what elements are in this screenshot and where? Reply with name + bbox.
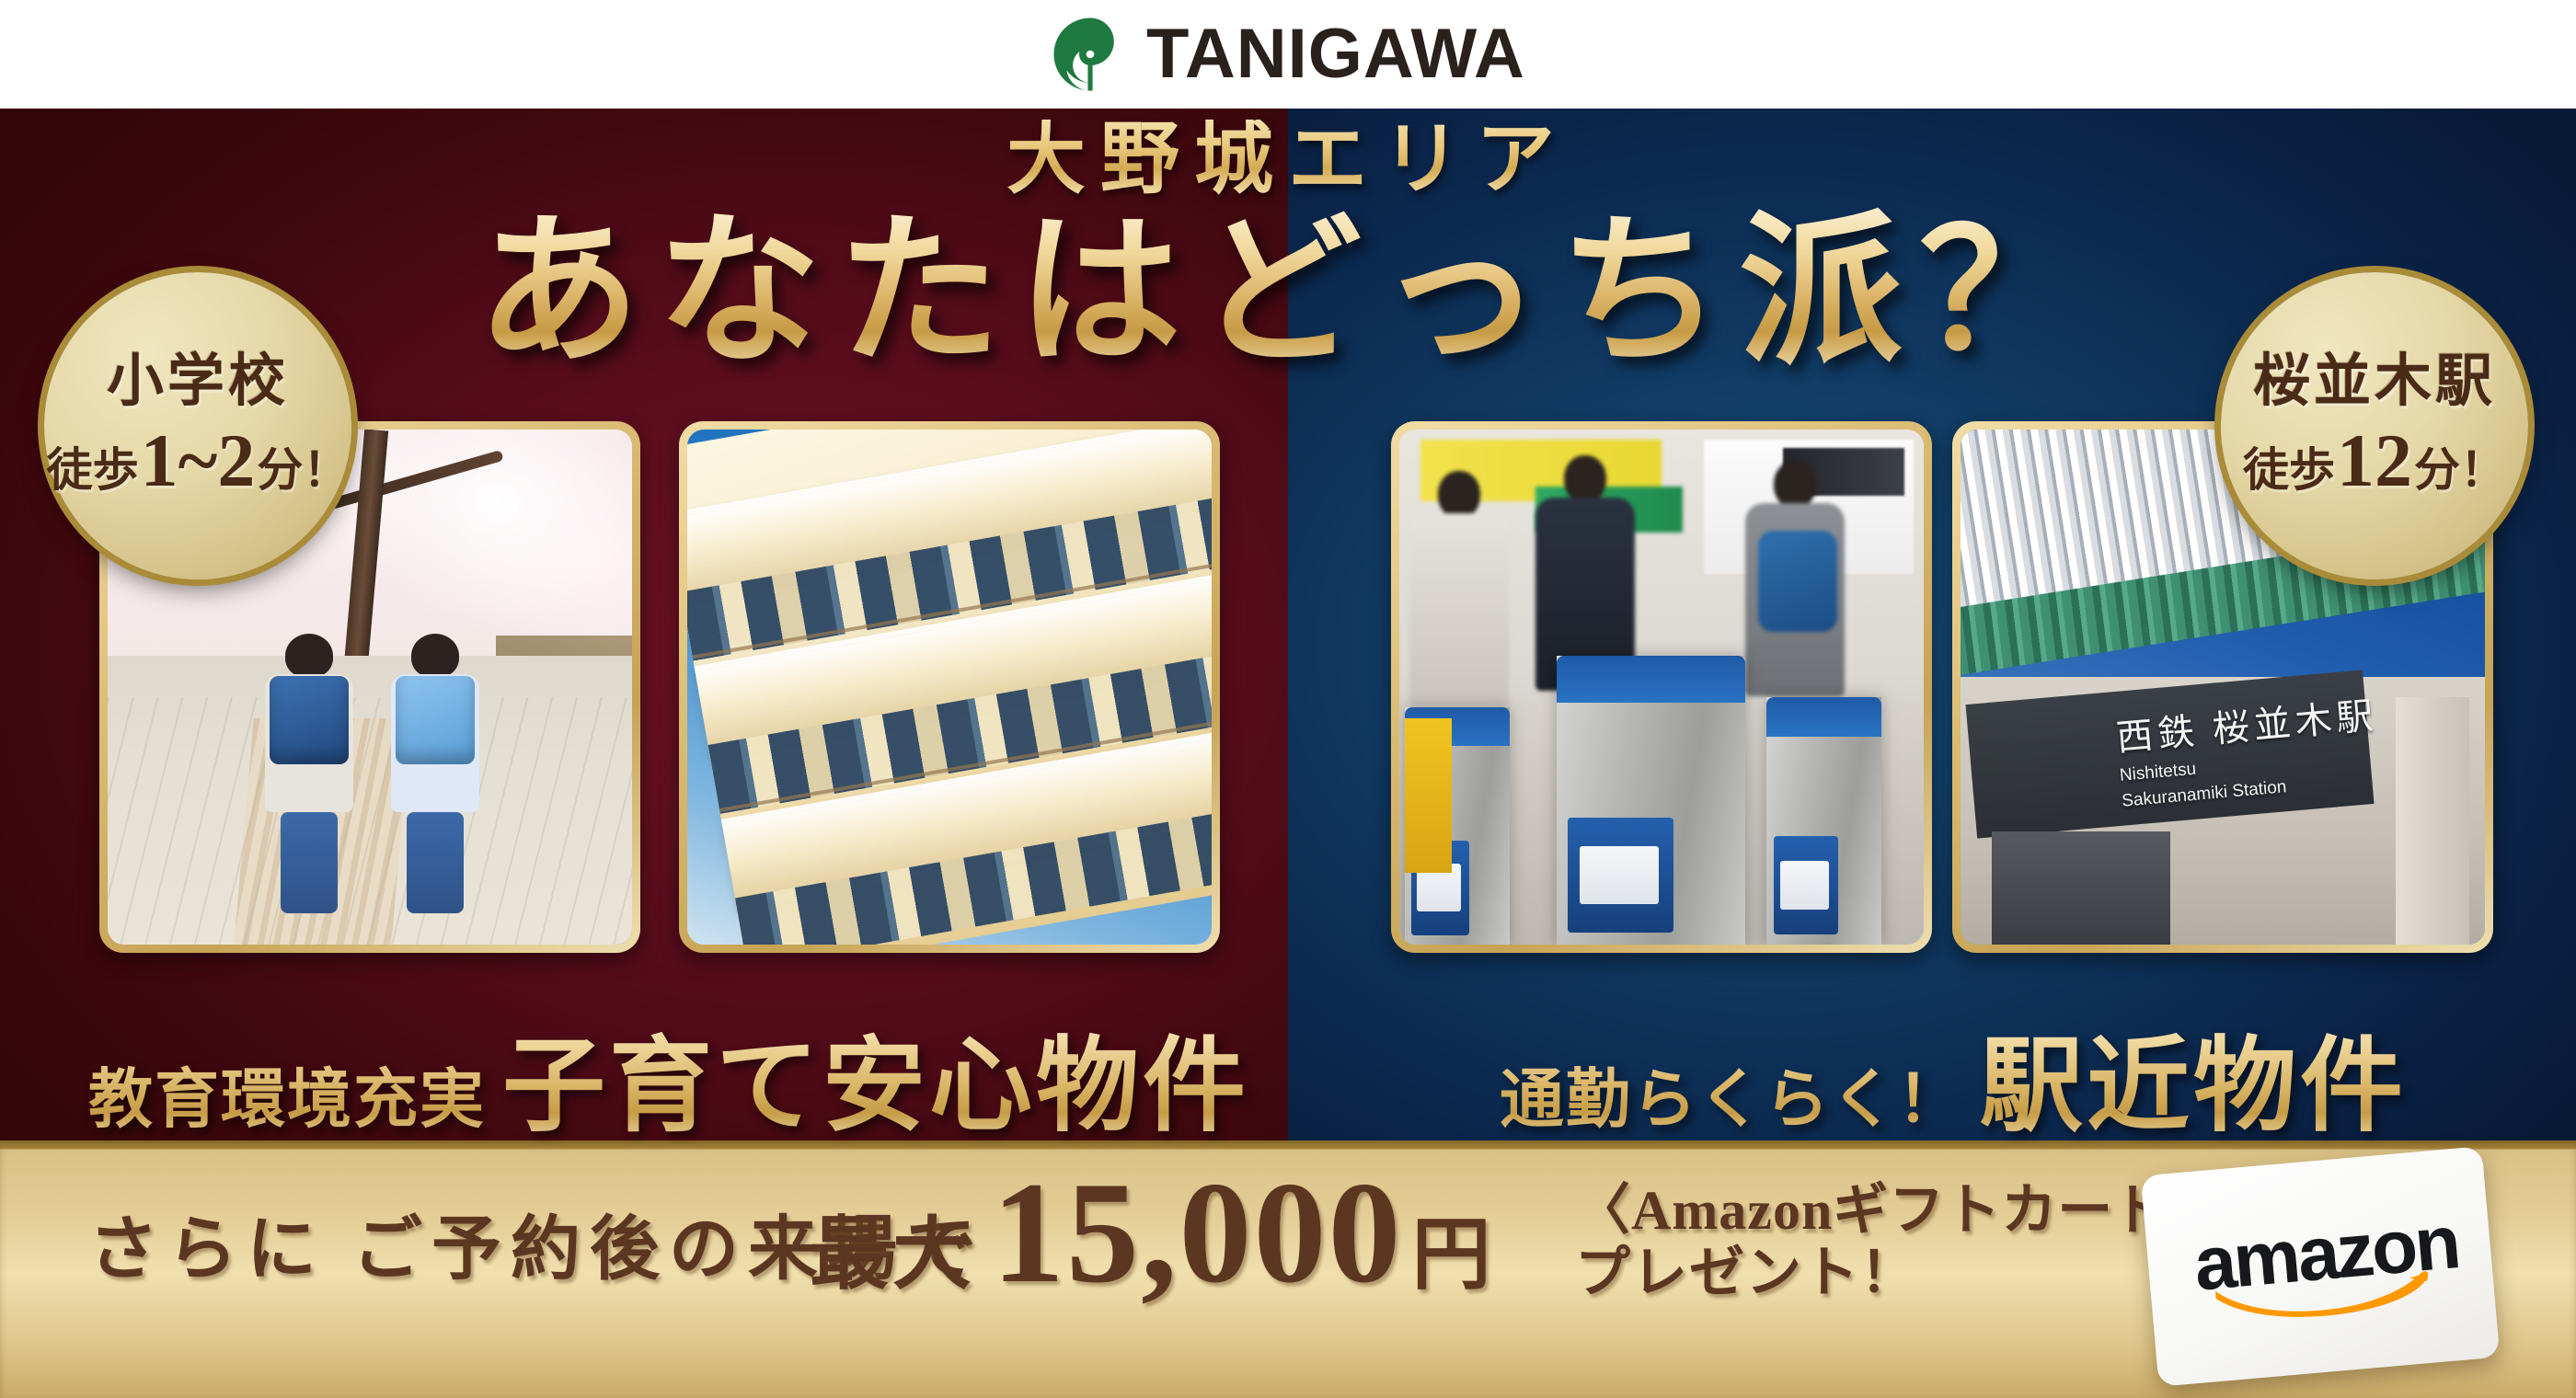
left-caption-big: 子育て安心物件 xyxy=(502,1003,1249,1152)
promo-max-label: 最大 xyxy=(810,1189,975,1304)
badge-right-suffix: 分！ xyxy=(2414,447,2506,493)
page-title: あなたはどっち派？ xyxy=(0,204,2576,381)
site-header: TANIGAWA xyxy=(0,0,2576,109)
brand-wordmark: TANIGAWA xyxy=(1146,19,1525,89)
badge-right-minutes: 12 xyxy=(2337,423,2412,498)
station-name-sign: 西鉄 桜並木駅 Nishitetsu Sakuranamiki Station xyxy=(2114,686,2374,812)
photo-school-building xyxy=(679,421,1220,953)
right-caption-small: 通勤らくらく！ xyxy=(1500,1048,1963,1140)
left-panel-caption: 教育環境充実 子育て安心物件 xyxy=(88,1003,1249,1152)
amazon-gift-card: amazon xyxy=(2141,1146,2501,1387)
badge-left-prefix: 徒歩 xyxy=(47,447,139,493)
badge-left-suffix: 分！ xyxy=(257,447,349,493)
left-caption-small: 教育環境充実 xyxy=(88,1048,486,1140)
promo-amount: 最大 15,000 円 xyxy=(810,1161,1491,1306)
badge-right-title: 桜並木駅 xyxy=(2253,353,2496,410)
brand-logo[interactable]: TANIGAWA xyxy=(1051,15,1525,94)
promo-currency-unit: 円 xyxy=(1412,1189,1491,1304)
concentric-circle-mark-icon xyxy=(1051,15,1130,94)
badge-left-title: 小学校 xyxy=(107,353,289,410)
promo-banner: TANIGAWA 大野城エリア あなたはどっち派？ xyxy=(0,0,2576,1398)
badge-left-minutes: 1~2 xyxy=(141,423,256,498)
promo-gift-note: 〈Amazonギフトカード〉 プレゼント！ xyxy=(1575,1179,2225,1305)
photo-image xyxy=(687,430,1212,945)
promo-gift-line1: 〈Amazonギフトカード〉 xyxy=(1575,1179,2225,1242)
badge-right-prefix: 徒歩 xyxy=(2243,447,2335,493)
photo-image xyxy=(1399,430,1924,945)
right-caption-big: 駅近物件 xyxy=(1980,1003,2407,1152)
promo-amount-value: 15,000 xyxy=(992,1161,1403,1306)
right-panel-caption: 通勤らくらく！ 駅近物件 xyxy=(1500,1003,2407,1152)
photo-station-ticket-gates xyxy=(1391,421,1932,953)
badge-station-walk-time: 桜並木駅 徒歩 12 分！ xyxy=(2221,272,2528,579)
badge-elementary-school-walk-time: 小学校 徒歩 1~2 分！ xyxy=(44,272,351,579)
area-label: 大野城エリア xyxy=(0,120,2576,199)
promo-gift-line2: プレゼント！ xyxy=(1575,1242,1917,1304)
